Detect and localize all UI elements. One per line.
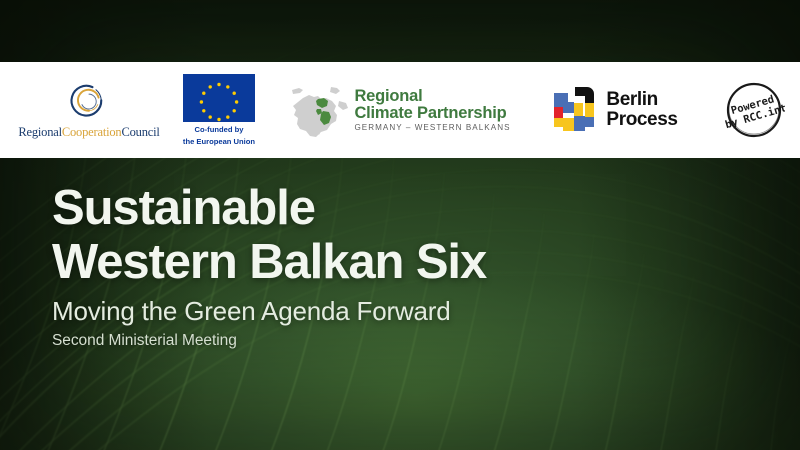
title-line-2: Western Balkan Six [52, 236, 752, 290]
rcc-wordmark: RegionalCooperationCouncil [18, 125, 159, 140]
circular-stamp-icon: Powered by RCC.int [723, 79, 785, 141]
europe-map-icon [287, 79, 351, 141]
berlin-process-line1: Berlin [606, 90, 677, 110]
partner-logo-band: RegionalCooperationCouncil [0, 62, 800, 158]
logo-regional-cooperation-council: RegionalCooperationCouncil [14, 62, 164, 158]
rcc-word-council: Council [121, 125, 159, 139]
rcc-word-regional: Regional [18, 125, 62, 139]
berlin-process-mark-icon [550, 85, 598, 135]
eu-caption-line2: the European Union [183, 137, 255, 146]
rcp-line3: GERMANY – WESTERN BALKANS [354, 124, 510, 132]
berlin-process-line2: Process [606, 110, 677, 130]
eu-stars-icon [183, 74, 255, 122]
rcc-word-cooperation: Cooperation [62, 125, 122, 139]
rcp-line1: Regional [354, 88, 510, 105]
event-label: Second Ministerial Meeting [52, 332, 752, 350]
event-banner: RegionalCooperationCouncil [0, 0, 800, 450]
rcp-line2: Climate Partnership [354, 105, 510, 122]
logo-berlin-process: Berlin Process [524, 62, 704, 158]
title-line-1: Sustainable [52, 182, 752, 236]
headline-block: Sustainable Western Balkan Six Moving th… [52, 182, 752, 350]
logo-european-union: Co-funded by the European Union [164, 62, 274, 158]
rcc-swirl-icon [62, 81, 116, 123]
subtitle: Moving the Green Agenda Forward [52, 296, 752, 327]
logo-regional-climate-partnership: Regional Climate Partnership GERMANY – W… [274, 62, 524, 158]
logo-powered-by-rcc: Powered by RCC.int [704, 62, 800, 158]
eu-flag-icon [183, 74, 255, 122]
eu-caption-line1: Co-funded by [195, 125, 244, 134]
